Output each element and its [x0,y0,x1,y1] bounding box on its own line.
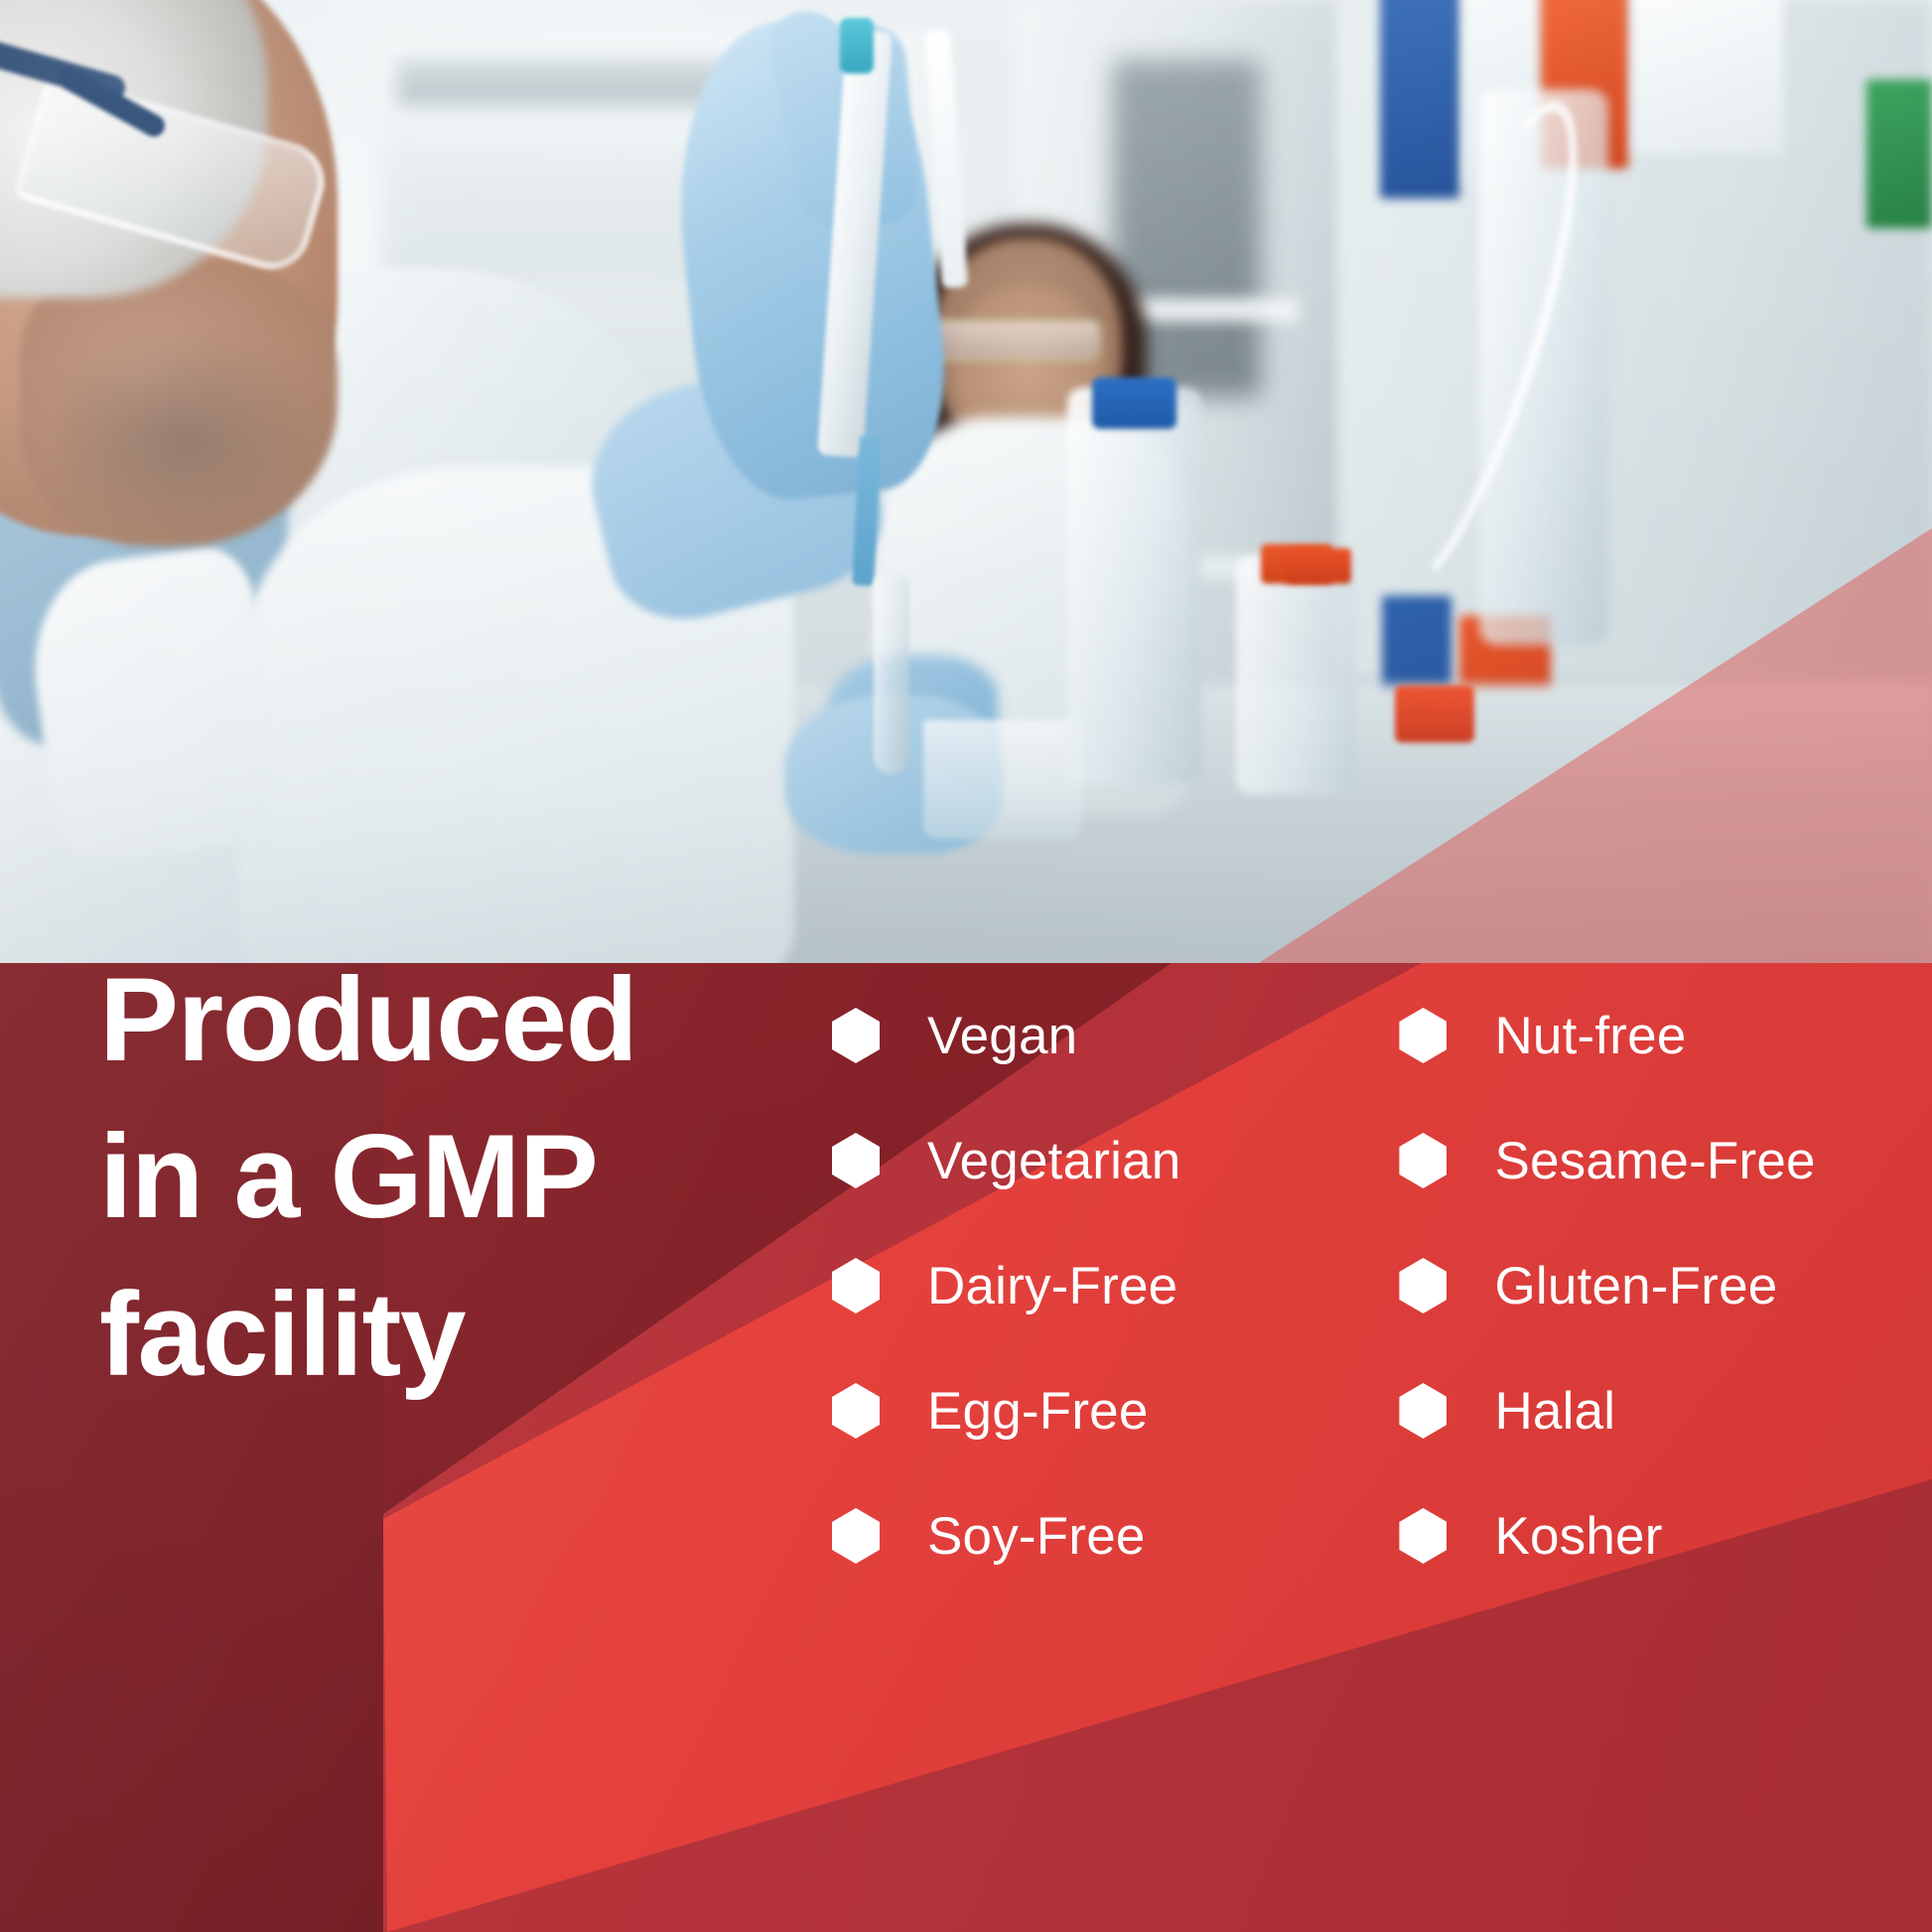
certification-column-right: Nut-free Sesame-Free Gluten-Free Halal [1399,973,1815,1598]
hexagon-bullet-icon [1399,1383,1447,1439]
certification-label: Egg-Free [927,1385,1149,1438]
hexagon-bullet-icon [832,1008,880,1063]
certification-label: Vegan [927,1010,1077,1062]
certification-label: Dairy-Free [927,1260,1177,1312]
list-item: Dairy-Free [832,1223,1180,1348]
certification-label: Kosher [1494,1510,1662,1563]
list-item: Soy-Free [832,1473,1180,1598]
certifications-panel: Produced in a GMP facility Vegan Vegetar… [0,963,1932,1932]
certification-label: Vegetarian [927,1135,1180,1187]
list-item: Gluten-Free [1399,1223,1815,1348]
page-title: Produced in a GMP facility [99,963,675,1413]
certification-label: Nut-free [1494,1010,1686,1062]
certification-column-left: Vegan Vegetarian Dairy-Free Egg-Free [832,973,1180,1598]
hexagon-bullet-icon [1399,1508,1447,1564]
list-item: Sesame-Free [1399,1098,1815,1223]
hexagon-bullet-icon [1399,1258,1447,1313]
list-item: Vegetarian [832,1098,1180,1223]
list-item: Nut-free [1399,973,1815,1098]
list-item: Kosher [1399,1473,1815,1598]
hexagon-bullet-icon [832,1133,880,1188]
list-item: Vegan [832,973,1180,1098]
hexagon-bullet-icon [1399,1008,1447,1063]
promotional-banner: Produced in a GMP facility Vegan Vegetar… [0,0,1932,1932]
hexagon-bullet-icon [1399,1133,1447,1188]
list-item: Egg-Free [832,1348,1180,1473]
certification-label: Soy-Free [927,1510,1146,1563]
headline-line-3: facility [99,1256,675,1413]
hexagon-bullet-icon [832,1383,880,1439]
laboratory-photo [0,0,1932,968]
certification-label: Halal [1494,1385,1615,1438]
hexagon-bullet-icon [832,1508,880,1564]
headline-line-1: Produced [99,963,675,1098]
certifications-list: Vegan Vegetarian Dairy-Free Egg-Free [832,973,1816,1598]
certification-label: Gluten-Free [1494,1260,1777,1312]
certification-label: Sesame-Free [1494,1135,1815,1187]
panel-content: Produced in a GMP facility Vegan Vegetar… [0,963,1932,1932]
hexagon-bullet-icon [832,1258,880,1313]
list-item: Halal [1399,1348,1815,1473]
headline-line-2: in a GMP [99,1098,675,1255]
